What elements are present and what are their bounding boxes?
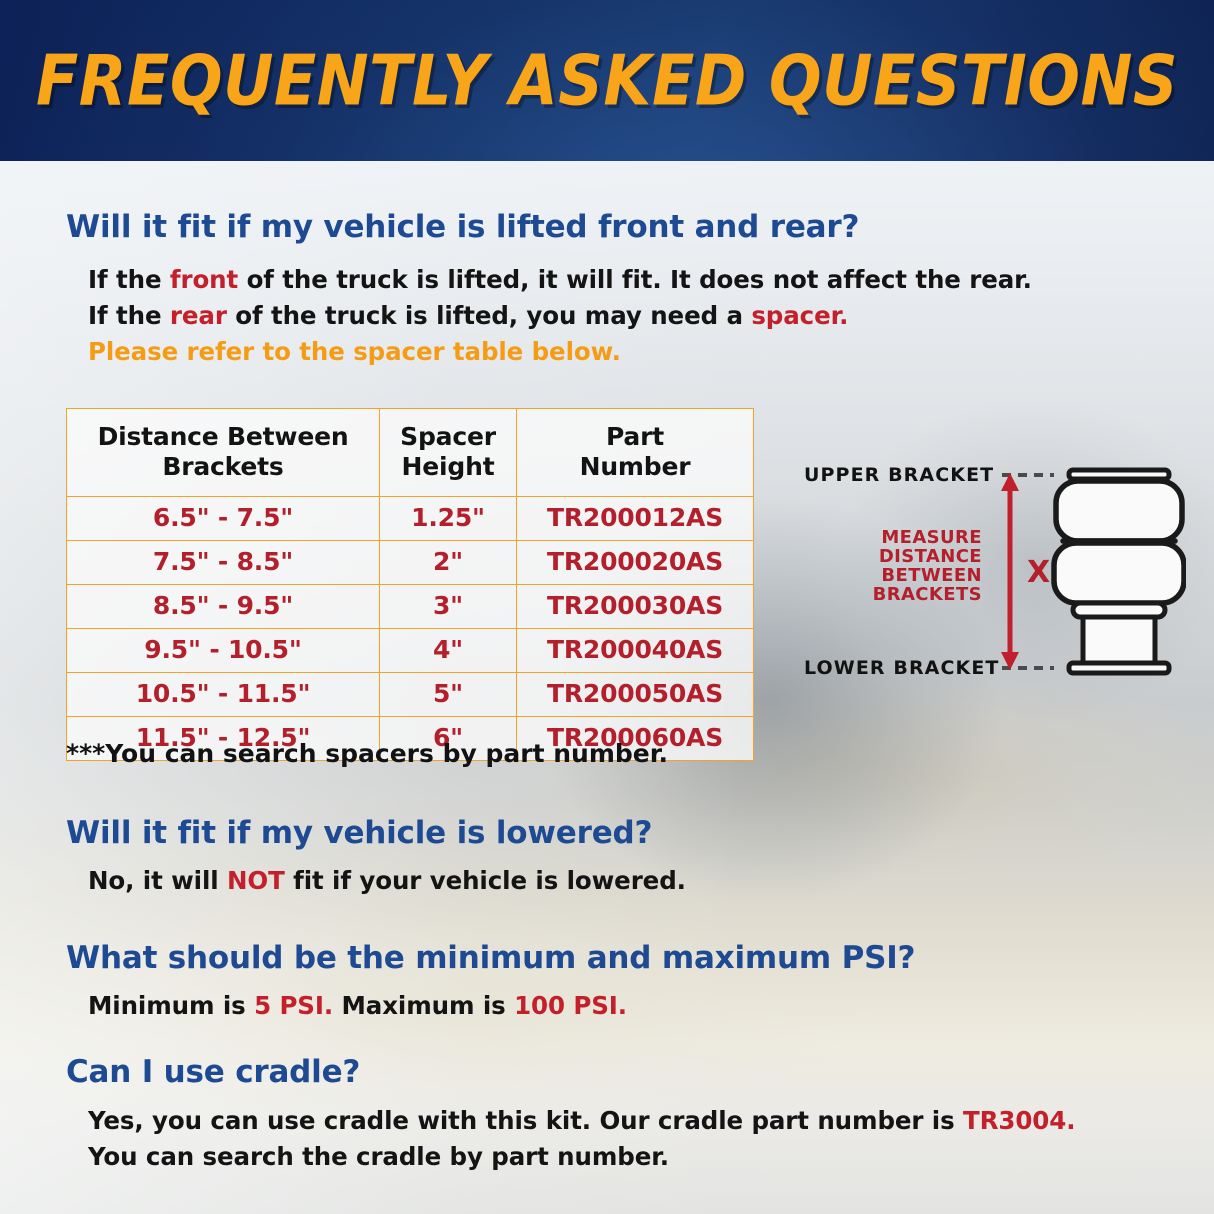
- header-banner: FREQUENTLY ASKED QUESTIONS: [0, 0, 1214, 161]
- cell-distance: 6.5" - 7.5": [67, 497, 380, 541]
- answer-lifted-line-3: Please refer to the spacer table below.: [88, 337, 621, 366]
- dimension-symbol-x: X: [1027, 555, 1050, 590]
- upper-bracket-plate: [1069, 470, 1169, 479]
- table-row: 8.5" - 9.5" 3" TR200030AS: [67, 585, 754, 629]
- cell-spacer-height: 5": [380, 673, 517, 717]
- column-header-part-line1: Part: [606, 422, 664, 451]
- cell-spacer-height: 1.25": [380, 497, 517, 541]
- answer-text: Maximum is: [333, 991, 514, 1020]
- page-title: FREQUENTLY ASKED QUESTIONS: [36, 40, 1178, 122]
- answer-text: of the truck is lifted, it will fit. It …: [238, 265, 1032, 294]
- cell-distance: 8.5" - 9.5": [67, 585, 380, 629]
- answer-lifted-line-1: If the front of the truck is lifted, it …: [88, 265, 1032, 294]
- cell-spacer-height: 2": [380, 541, 517, 585]
- column-header-distance-line1: Distance Between: [98, 422, 349, 451]
- answer-text: You can search the cradle by part number…: [88, 1142, 669, 1171]
- cell-distance: 9.5" - 10.5": [67, 629, 380, 673]
- measure-label-line-3: BETWEEN: [881, 565, 982, 586]
- highlight-spacer: spacer.: [751, 301, 848, 330]
- dimension-arrow: [1001, 473, 1019, 670]
- answer-cradle-line-1: Yes, you can use cradle with this kit. O…: [88, 1106, 1075, 1135]
- answer-text: Yes, you can use cradle with this kit. O…: [88, 1106, 963, 1135]
- column-header-part-number: Part Number: [517, 409, 754, 497]
- table-header-row: Distance Between Brackets Spacer Height …: [67, 409, 754, 497]
- cell-part-number: TR200040AS: [517, 629, 754, 673]
- column-header-distance: Distance Between Brackets: [67, 409, 380, 497]
- faq-item-psi: What should be the minimum and maximum P…: [66, 940, 915, 976]
- table-row: 6.5" - 7.5" 1.25" TR200012AS: [67, 497, 754, 541]
- highlight-max-psi: 100 PSI.: [514, 991, 627, 1020]
- cell-part-number: TR200020AS: [517, 541, 754, 585]
- answer-text: No, it will: [88, 866, 227, 895]
- table-row: 7.5" - 8.5" 2" TR200020AS: [67, 541, 754, 585]
- table-row: 10.5" - 11.5" 5" TR200050AS: [67, 673, 754, 717]
- lower-bracket-label: LOWER BRACKET: [804, 657, 1000, 679]
- air-spring-illustration: [1054, 470, 1184, 673]
- answer-lowered-line-1: No, it will NOT fit if your vehicle is l…: [88, 866, 686, 895]
- column-header-spacer-line1: Spacer: [400, 422, 496, 451]
- question-heading-lowered: Will it fit if my vehicle is lowered?: [66, 815, 652, 851]
- column-header-distance-line2: Brackets: [162, 452, 283, 481]
- air-spring-piston: [1083, 617, 1155, 665]
- answer-cradle-line-2: You can search the cradle by part number…: [88, 1142, 669, 1171]
- table-row: 9.5" - 10.5" 4" TR200040AS: [67, 629, 754, 673]
- air-spring-upper-lobe: [1056, 481, 1182, 541]
- lower-bracket-plate: [1069, 663, 1169, 673]
- answer-text: If the: [88, 301, 170, 330]
- cell-spacer-height: 4": [380, 629, 517, 673]
- upper-bracket-label: UPPER BRACKET: [804, 464, 994, 486]
- highlight-front: front: [170, 265, 238, 294]
- answer-psi-line-1: Minimum is 5 PSI. Maximum is 100 PSI.: [88, 991, 627, 1020]
- question-heading-cradle: Can I use cradle?: [66, 1054, 360, 1090]
- highlight-rear: rear: [170, 301, 227, 330]
- question-heading-psi: What should be the minimum and maximum P…: [66, 940, 915, 976]
- answer-text: of the truck is lifted, you may need a: [227, 301, 752, 330]
- cell-distance: 10.5" - 11.5": [67, 673, 380, 717]
- spacer-table: Distance Between Brackets Spacer Height …: [66, 408, 754, 761]
- answer-text: Minimum is: [88, 991, 254, 1020]
- column-header-part-line2: Number: [580, 452, 691, 481]
- answer-text: fit if your vehicle is lowered.: [285, 866, 686, 895]
- air-spring-lower-lobe: [1054, 543, 1184, 603]
- bracket-measurement-diagram: UPPER BRACKET LOWER BRACKET MEASURE DIST…: [786, 455, 1186, 695]
- search-by-part-number-note: ***You can search spacers by part number…: [66, 739, 668, 768]
- column-header-spacer-height: Spacer Height: [380, 409, 517, 497]
- faq-item-cradle: Can I use cradle?: [66, 1054, 360, 1090]
- faq-item-lifted: Will it fit if my vehicle is lifted fron…: [66, 209, 859, 245]
- measure-label-line-4: BRACKETS: [873, 584, 982, 605]
- cell-spacer-height: 3": [380, 585, 517, 629]
- highlight-cradle-part-number: TR3004.: [963, 1106, 1075, 1135]
- faq-item-lowered: Will it fit if my vehicle is lowered?: [66, 815, 652, 851]
- cell-part-number: TR200012AS: [517, 497, 754, 541]
- question-heading-lifted: Will it fit if my vehicle is lifted fron…: [66, 209, 859, 245]
- faq-infographic-page: FREQUENTLY ASKED QUESTIONS Will it fit i…: [0, 0, 1214, 1214]
- highlight-min-psi: 5 PSI.: [254, 991, 333, 1020]
- answer-text: If the: [88, 265, 170, 294]
- measure-label-line-2: DISTANCE: [879, 546, 982, 567]
- answer-lifted-line-2: If the rear of the truck is lifted, you …: [88, 301, 848, 330]
- highlight-not: NOT: [227, 866, 285, 895]
- cell-distance: 7.5" - 8.5": [67, 541, 380, 585]
- spacer-table-reference: Please refer to the spacer table below.: [88, 337, 621, 366]
- measure-label-line-1: MEASURE: [881, 527, 982, 548]
- cell-part-number: TR200030AS: [517, 585, 754, 629]
- column-header-spacer-line2: Height: [402, 452, 495, 481]
- content-area: Will it fit if my vehicle is lifted fron…: [0, 161, 1214, 1214]
- cell-part-number: TR200050AS: [517, 673, 754, 717]
